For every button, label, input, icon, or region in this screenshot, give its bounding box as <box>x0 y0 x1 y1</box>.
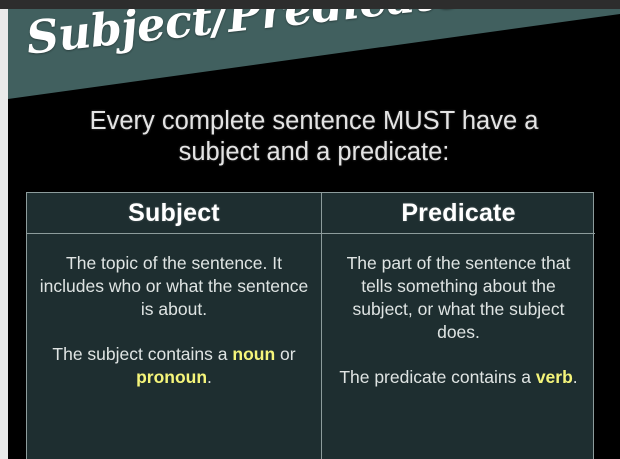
comparison-table: Subject Predicate The topic of the sente… <box>26 192 594 459</box>
subject-rule-prefix: The subject contains a <box>52 344 232 364</box>
subject-definition: The topic of the sentence. It includes w… <box>39 252 309 321</box>
slide-root: Subject/Predicate Every complete sentenc… <box>0 0 620 459</box>
predicate-keyword-verb: verb <box>536 367 573 387</box>
cell-predicate: The part of the sentence that tells some… <box>322 234 595 459</box>
top-bar <box>0 0 620 9</box>
subject-rule-middle: or <box>275 344 295 364</box>
subtitle-line-2: subject and a predicate: <box>8 137 620 168</box>
subtitle-line-1: Every complete sentence MUST have a <box>8 106 620 137</box>
predicate-rule: The predicate contains a verb. <box>334 366 583 389</box>
subject-keyword-noun: noun <box>232 344 275 364</box>
predicate-rule-suffix: . <box>573 367 578 387</box>
cell-subject: The topic of the sentence. It includes w… <box>27 234 321 459</box>
subject-rule: The subject contains a noun or pronoun. <box>39 343 309 389</box>
predicate-definition: The part of the sentence that tells some… <box>334 252 583 344</box>
left-edge-strip <box>0 9 8 459</box>
column-header-predicate: Predicate <box>322 193 595 233</box>
slide-subtitle: Every complete sentence MUST have a subj… <box>8 106 620 168</box>
predicate-rule-prefix: The predicate contains a <box>339 367 536 387</box>
column-header-subject: Subject <box>27 193 321 233</box>
subject-keyword-pronoun: pronoun <box>136 367 207 387</box>
subject-rule-suffix: . <box>207 367 212 387</box>
